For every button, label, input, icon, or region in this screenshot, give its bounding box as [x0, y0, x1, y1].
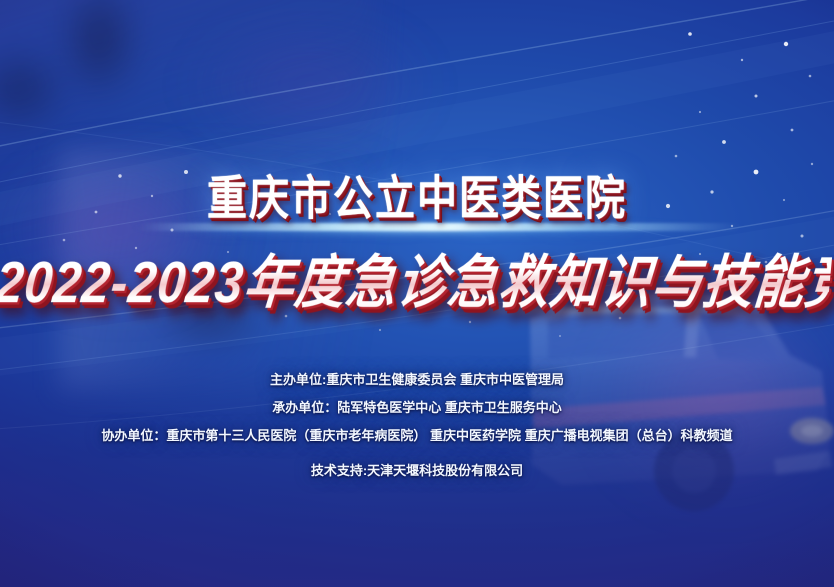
credits-block: 主办单位:重庆市卫生健康委员会 重庆市中医管理局 承办单位：陆军特色医学中心 重… [0, 366, 834, 485]
poster-content: 重庆市公立中医类医院 2022-2023年度急诊急救知识与技能竞赛 主办单位:重… [0, 0, 834, 587]
poster-root: 重庆市公立中医类医院 2022-2023年度急诊急救知识与技能竞赛 主办单位:重… [0, 0, 834, 587]
credit-line-co-organizer: 协办单位：重庆市第十三人民医院（重庆市老年病医院） 重庆中医药学院 重庆广播电视… [0, 422, 834, 450]
poster-title-line-2: 2022-2023年度急诊急救知识与技能竞赛 [0, 236, 834, 320]
credit-line-host: 承办单位：陆军特色医学中心 重庆市卫生服务中心 [0, 394, 834, 422]
credit-line-organizer: 主办单位:重庆市卫生健康委员会 重庆市中医管理局 [0, 366, 834, 394]
credit-line-technical-support: 技术支持:天津天堰科技股份有限公司 [0, 457, 834, 485]
poster-title-line-1: 重庆市公立中医类医院 [0, 160, 834, 228]
